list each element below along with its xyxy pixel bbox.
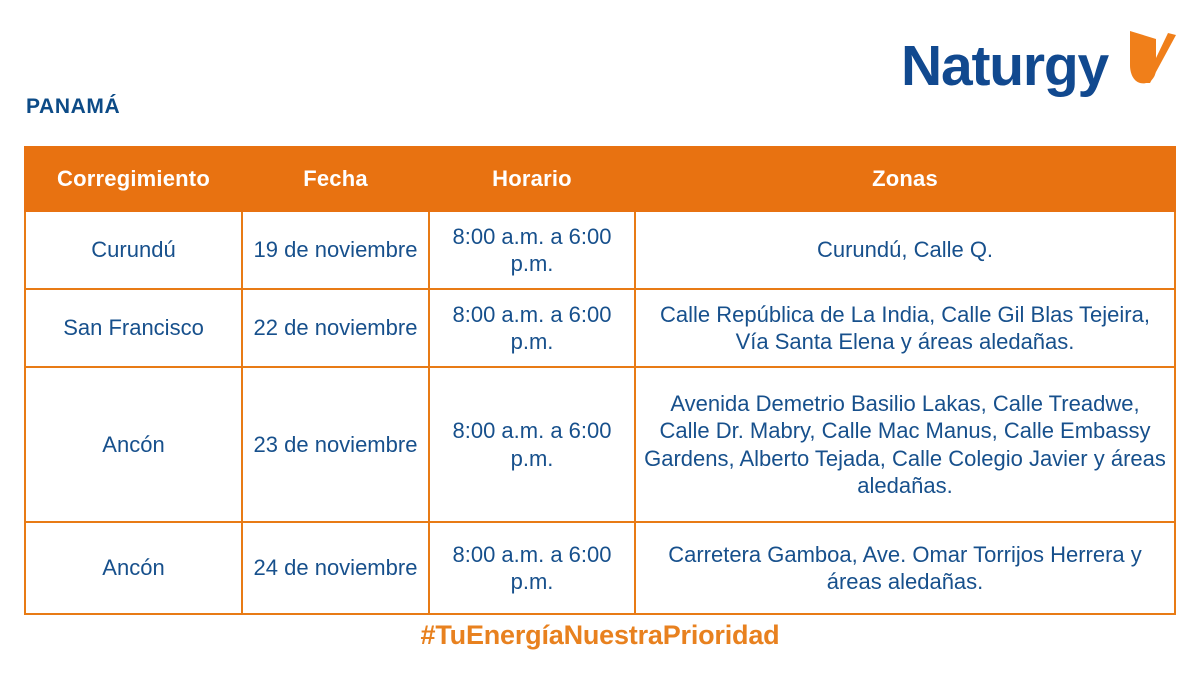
table-row: San Francisco 22 de noviembre 8:00 a.m. … xyxy=(25,289,1175,367)
table-body: Curundú 19 de noviembre 8:00 a.m. a 6:00… xyxy=(25,211,1175,614)
cell-corregimiento: San Francisco xyxy=(25,289,242,367)
cell-corregimiento: Ancón xyxy=(25,367,242,522)
table-row: Ancón 24 de noviembre 8:00 a.m. a 6:00 p… xyxy=(25,522,1175,614)
cell-zonas: Curundú, Calle Q. xyxy=(635,211,1175,289)
cell-horario: 8:00 a.m. a 6:00 p.m. xyxy=(429,367,635,522)
column-header-fecha: Fecha xyxy=(242,147,429,211)
cell-corregimiento: Curundú xyxy=(25,211,242,289)
cell-zonas: Carretera Gamboa, Ave. Omar Torrijos Her… xyxy=(635,522,1175,614)
table-row: Ancón 23 de noviembre 8:00 a.m. a 6:00 p… xyxy=(25,367,1175,522)
cell-horario: 8:00 a.m. a 6:00 p.m. xyxy=(429,289,635,367)
cell-fecha: 22 de noviembre xyxy=(242,289,429,367)
cell-fecha: 24 de noviembre xyxy=(242,522,429,614)
naturgy-logo: Naturgy xyxy=(901,30,1184,102)
table-header-row: Corregimiento Fecha Horario Zonas xyxy=(25,147,1175,211)
campaign-hashtag: #TuEnergíaNuestraPrioridad xyxy=(421,620,780,650)
cell-horario: 8:00 a.m. a 6:00 p.m. xyxy=(429,522,635,614)
brand-wordmark: Naturgy xyxy=(901,38,1108,95)
cell-zonas: Calle República de La India, Calle Gil B… xyxy=(635,289,1175,367)
cell-corregimiento: Ancón xyxy=(25,522,242,614)
cell-fecha: 19 de noviembre xyxy=(242,211,429,289)
page-header: PANAMÁ Naturgy xyxy=(0,0,1200,140)
table-row: Curundú 19 de noviembre 8:00 a.m. a 6:00… xyxy=(25,211,1175,289)
outage-schedule-page: PANAMÁ Naturgy Corregimiento Fecha Horar… xyxy=(0,0,1200,673)
page-title: PANAMÁ xyxy=(26,96,120,117)
cell-horario: 8:00 a.m. a 6:00 p.m. xyxy=(429,211,635,289)
column-header-zonas: Zonas xyxy=(635,147,1175,211)
page-footer: #TuEnergíaNuestraPrioridad xyxy=(0,621,1200,651)
cell-fecha: 23 de noviembre xyxy=(242,367,429,522)
outage-schedule-table: Corregimiento Fecha Horario Zonas Curund… xyxy=(24,146,1176,615)
cell-zonas: Avenida Demetrio Basilio Lakas, Calle Tr… xyxy=(635,367,1175,522)
table-header: Corregimiento Fecha Horario Zonas xyxy=(25,147,1175,211)
column-header-corregimiento: Corregimiento xyxy=(25,147,242,211)
column-header-horario: Horario xyxy=(429,147,635,211)
naturgy-flame-icon xyxy=(1110,21,1184,95)
